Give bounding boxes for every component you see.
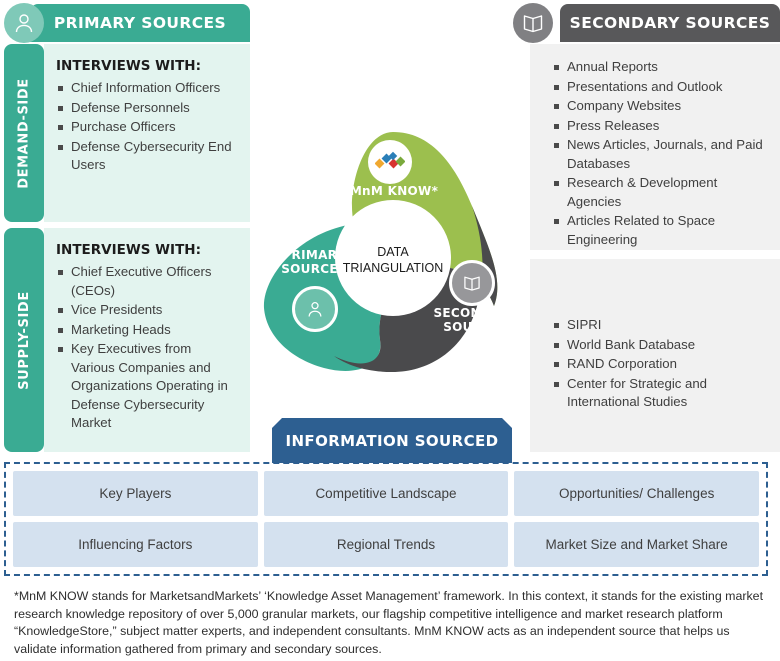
list-item: Company Websites	[552, 97, 766, 116]
supply-side-label: SUPPLY-SIDE	[17, 291, 32, 390]
list-item: RAND Corporation	[552, 355, 766, 374]
book-icon	[513, 3, 553, 43]
demand-side-label: DEMAND-SIDE	[17, 78, 32, 188]
primary-sources-node-icon	[292, 286, 338, 332]
list-item: World Bank Database	[552, 336, 766, 355]
secondary-sources-node-icon	[449, 260, 495, 306]
list-item: SIPRI	[552, 316, 766, 335]
supply-side-lead: INTERVIEWS WITH:	[56, 242, 238, 258]
sourced-cell-opportunities-challenges[interactable]: Opportunities/ Challenges	[514, 471, 759, 516]
list-item: Presentations and Outlook	[552, 78, 766, 97]
list-item: Chief Information Officers	[56, 79, 238, 98]
primary-sources-title: PRIMARY SOURCES	[54, 14, 226, 32]
list-item: Defense Cybersecurity End Users	[56, 138, 238, 175]
secondary-sources-title: SECONDARY SOURCES	[570, 14, 771, 32]
secondary-bottom-panel: SIPRI World Bank Database RAND Corporati…	[530, 259, 780, 452]
secondary-top-panel: Annual Reports Presentations and Outlook…	[530, 44, 780, 250]
information-sourced-label: INFORMATION SOURCED	[286, 432, 499, 450]
list-item: Center for Strategic and International S…	[552, 375, 766, 412]
primary-sources-header: PRIMARY SOURCES	[30, 4, 250, 42]
secondary-sources-header: SECONDARY SOURCES	[560, 4, 780, 42]
mnm-diamonds-icon	[368, 140, 412, 184]
infographic-canvas: PRIMARY SOURCES DEMAND-SIDE INTERVIEWS W…	[0, 0, 780, 661]
list-item: News Articles, Journals, and Paid Databa…	[552, 136, 766, 173]
supply-side-tab: SUPPLY-SIDE	[4, 228, 44, 452]
sourced-cell-influencing-factors[interactable]: Influencing Factors	[13, 522, 258, 567]
data-triangulation-diagram: DATA TRIANGULATION MnM KNOW* PRIMARY SOU…	[258, 128, 528, 376]
list-item: Vice Presidents	[56, 301, 238, 320]
mnm-know-label: MnM KNOW*	[324, 184, 464, 198]
list-item: Articles Related to Space Engineering	[552, 212, 766, 249]
supply-side-list: Chief Executive Officers (CEOs) Vice Pre…	[56, 263, 238, 433]
list-item: Chief Executive Officers (CEOs)	[56, 263, 238, 300]
list-item: Key Executives from Various Companies an…	[56, 340, 238, 433]
primary-sources-lobe-label: PRIMARY SOURCES	[268, 248, 360, 276]
demand-side-lead: INTERVIEWS WITH:	[56, 58, 238, 74]
list-item: Annual Reports	[552, 58, 766, 77]
secondary-bottom-list: SIPRI World Bank Database RAND Corporati…	[552, 316, 766, 412]
list-item: Press Releases	[552, 117, 766, 136]
list-item: Research & Development Agencies	[552, 174, 766, 211]
sourced-cell-market-size-share[interactable]: Market Size and Market Share	[514, 522, 759, 567]
list-item: Marketing Heads	[56, 321, 238, 340]
demand-side-tab: DEMAND-SIDE	[4, 44, 44, 222]
sourced-cell-competitive-landscape[interactable]: Competitive Landscape	[264, 471, 509, 516]
sourced-cell-regional-trends[interactable]: Regional Trends	[264, 522, 509, 567]
demand-side-list: Chief Information Officers Defense Perso…	[56, 79, 238, 175]
list-item: Purchase Officers	[56, 118, 238, 137]
information-sourced-banner: INFORMATION SOURCED	[272, 418, 512, 463]
supply-side-panel: INTERVIEWS WITH: Chief Executive Officer…	[44, 228, 250, 452]
information-sourced-grid: Key Players Competitive Landscape Opport…	[4, 462, 768, 576]
sourced-cell-key-players[interactable]: Key Players	[13, 471, 258, 516]
secondary-sources-lobe-label: SECONDARY SOURCES	[426, 306, 526, 334]
person-icon	[4, 3, 44, 43]
demand-side-panel: INTERVIEWS WITH: Chief Information Offic…	[44, 44, 250, 222]
list-item: Defense Personnels	[56, 99, 238, 118]
footnote-text: *MnM KNOW stands for MarketsandMarkets’ …	[14, 588, 766, 658]
secondary-top-list: Annual Reports Presentations and Outlook…	[552, 58, 766, 249]
